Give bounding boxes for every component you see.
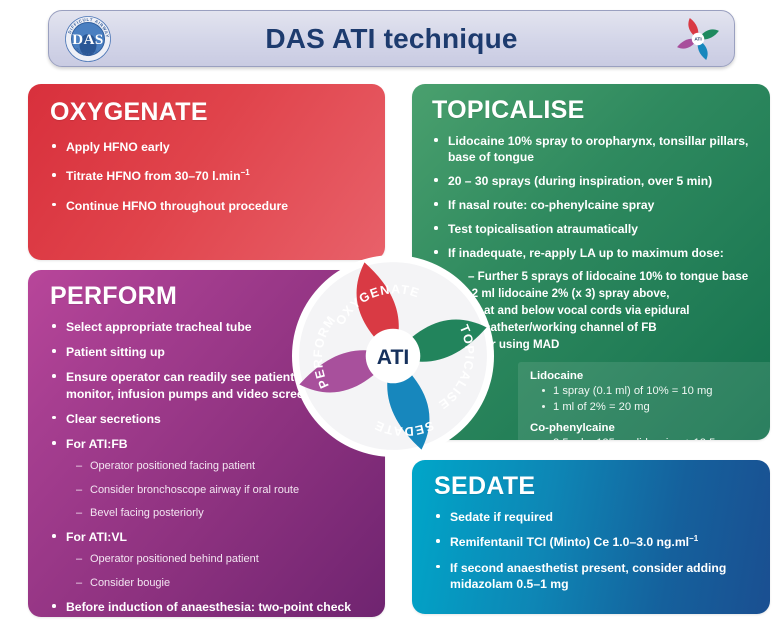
cophenylcaine-heading: Co-phenylcaine [530, 422, 762, 434]
bullet-text: Clear secretions [66, 412, 161, 426]
sedate-bullet-list: Sedate if required Remifentanil TCI (Min… [434, 509, 750, 592]
bullet-text: Apply HFNO early [66, 140, 170, 154]
list-item: Consider bougie [66, 576, 365, 590]
bullet-text: Test topicalisation atraumatically [448, 222, 638, 236]
svg-text:ATI: ATI [694, 36, 702, 42]
ati-pinwheel-logo-icon: ATI [674, 15, 722, 63]
infographic-page: DAS DIFFICULT AIRWAY SOCIETY DAS ATI tec… [0, 0, 781, 632]
bullet-text: If second anaesthetist present, consider… [450, 561, 726, 591]
list-item: 20 – 30 sprays (during inspiration, over… [432, 173, 756, 189]
list-item: For ATI:VL Operator positioned behind pa… [50, 529, 365, 590]
bullet-text: Remifentanil TCI (Minto) Ce 1.0–3.0 ng.m… [450, 535, 689, 549]
list-item: Operator positioned facing patient [66, 459, 365, 473]
panel-sedate-title: SEDATE [434, 474, 750, 499]
list-item: Apply HFNO early [50, 139, 365, 155]
header-bar: DAS DIFFICULT AIRWAY SOCIETY DAS ATI tec… [48, 10, 735, 67]
oxygenate-bullet-list: Apply HFNO early Titrate HFNO from 30–70… [50, 139, 365, 214]
list-item: Continue HFNO throughout procedure [50, 198, 365, 214]
lidocaine-dose-list: 1 spray (0.1 ml) of 10% = 10 mg 1 ml of … [530, 384, 762, 415]
perform-fb-sublist: Operator positioned facing patient Consi… [66, 459, 365, 520]
bullet-text: Patient sitting up [66, 345, 165, 359]
bullet-text: Continue HFNO throughout procedure [66, 199, 288, 213]
bullet-text: Lidocaine 10% spray to oropharynx, tonsi… [448, 134, 748, 164]
panel-oxygenate: OXYGENATE Apply HFNO early Titrate HFNO … [28, 84, 385, 260]
bullet-text: For ATI:VL [66, 530, 127, 544]
svg-text:DAS: DAS [72, 32, 104, 48]
list-item: Consider bronchoscope airway if oral rou… [66, 483, 365, 497]
superscript: −1 [241, 168, 250, 177]
panel-sedate: SEDATE Sedate if required Remifentanil T… [412, 460, 770, 614]
wheel-center-label: ATI [377, 346, 410, 369]
page-title: DAS ATI technique [265, 23, 517, 55]
list-item: If nasal route: co-phenylcaine spray [432, 197, 756, 213]
topicalise-bullet-list: Lidocaine 10% spray to oropharynx, tonsi… [432, 133, 756, 261]
list-item: Before induction of anaesthesia: two-poi… [50, 599, 365, 615]
list-item: Sedate if required [434, 509, 750, 525]
list-item: 2.5 ml = 125 mg lidocaine + 12.5 mg phen… [542, 436, 762, 440]
bullet-text: For ATI:FB [66, 437, 128, 451]
bullet-text: 20 – 30 sprays (during inspiration, over… [448, 174, 712, 188]
bullet-text: If nasal route: co-phenylcaine spray [448, 198, 654, 212]
ati-cycle-diagram: ATI OXYGENATE TOPICALISE SEDATE PERFORM [292, 255, 494, 457]
cophenylcaine-dose-list: 2.5 ml = 125 mg lidocaine + 12.5 mg phen… [530, 436, 762, 440]
bullet-text: Titrate HFNO from 30–70 l.min [66, 169, 241, 183]
bullet-text: Ensure operator can readily see patient … [66, 370, 311, 400]
list-item: Bevel facing posteriorly [66, 506, 365, 520]
panel-oxygenate-title: OXYGENATE [50, 100, 365, 125]
bullet-text: Select appropriate tracheal tube [66, 320, 252, 334]
perform-vl-sublist: Operator positioned behind patient Consi… [66, 552, 365, 590]
bullet-text: Sedate if required [450, 510, 553, 524]
lidocaine-heading: Lidocaine [530, 370, 762, 382]
list-item: Titrate HFNO from 30–70 l.min−1 [50, 168, 365, 184]
panel-topicalise-title: TOPICALISE [432, 98, 756, 123]
list-item: Ensure operator can readily see patient … [50, 369, 332, 401]
list-item: 1 ml of 2% = 20 mg [542, 400, 762, 415]
drug-dose-box: Lidocaine 1 spray (0.1 ml) of 10% = 10 m… [518, 362, 770, 440]
list-item: If second anaesthetist present, consider… [434, 560, 730, 592]
list-item: Test topicalisation atraumatically [432, 221, 756, 237]
bullet-text: Before induction of anaesthesia: two-poi… [66, 600, 351, 614]
list-item: Operator positioned behind patient [66, 552, 365, 566]
list-item: Lidocaine 10% spray to oropharynx, tonsi… [432, 133, 756, 165]
list-item: 1 spray (0.1 ml) of 10% = 10 mg [542, 384, 762, 399]
superscript: −1 [689, 534, 698, 543]
list-item: Remifentanil TCI (Minto) Ce 1.0–3.0 ng.m… [434, 534, 750, 550]
das-society-logo-icon: DAS DIFFICULT AIRWAY SOCIETY [63, 14, 113, 64]
